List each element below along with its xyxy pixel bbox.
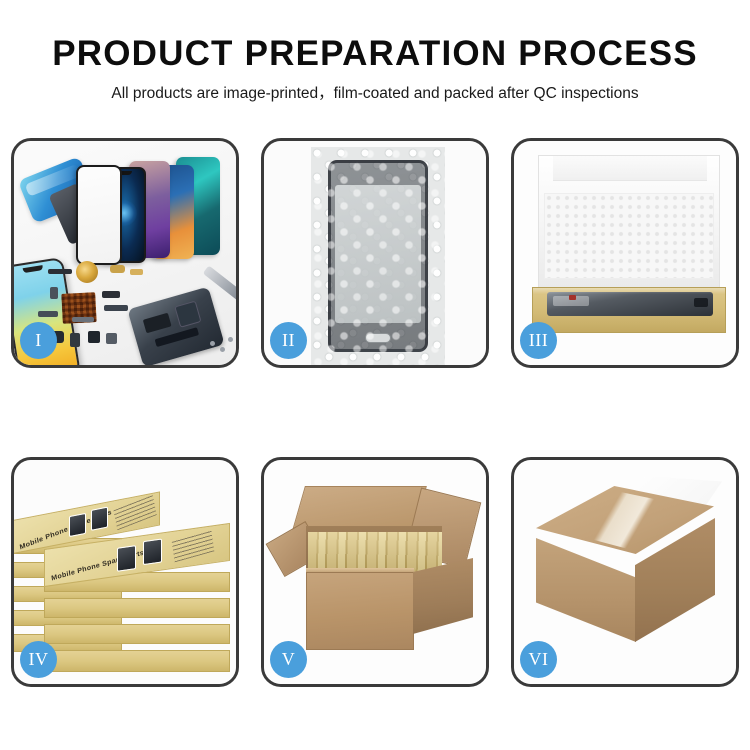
process-step-6: VI — [511, 457, 739, 687]
small-part — [48, 269, 72, 274]
packed-screen — [547, 292, 713, 316]
box-thumbnail — [117, 545, 136, 572]
process-step-2: II — [261, 138, 489, 368]
screen-marker — [569, 295, 576, 300]
step-badge-3: III — [520, 322, 557, 359]
step-badge-5: V — [270, 641, 307, 678]
small-part — [110, 265, 125, 273]
small-part — [70, 333, 80, 347]
kraft-box-base — [532, 287, 726, 333]
small-part — [38, 311, 58, 317]
step-badge-1: I — [20, 322, 57, 359]
copper-coil-part — [76, 261, 98, 283]
step-badge-2: II — [270, 322, 307, 359]
small-part — [106, 333, 117, 344]
bubble-wrap-overlay — [311, 147, 445, 365]
page-title: PRODUCT PREPARATION PROCESS — [0, 34, 750, 74]
step-badge-4: IV — [20, 641, 57, 678]
small-part — [130, 269, 143, 275]
small-part — [72, 317, 94, 322]
screw — [228, 337, 233, 342]
white-foam-insert — [544, 193, 714, 279]
process-step-5: V — [261, 457, 489, 687]
box-thumbnail — [69, 513, 86, 537]
small-part — [88, 331, 100, 343]
stacked-box — [44, 598, 230, 618]
glass-front-panel — [76, 165, 122, 265]
carton-front-face — [306, 572, 414, 650]
stacked-box — [44, 650, 230, 672]
box-thumbnail — [91, 507, 108, 531]
box-spec-lines — [113, 494, 156, 530]
process-step-3: III — [511, 138, 739, 368]
box-spec-lines — [172, 530, 215, 562]
small-part — [102, 291, 120, 298]
board-chip-b — [174, 301, 201, 328]
process-step-4: Mobile Phone Spare Parts Mobile Phone Sp… — [11, 457, 239, 687]
small-part — [50, 287, 58, 299]
product-preparation-infographic: PRODUCT PREPARATION PROCESS All products… — [0, 0, 750, 750]
page-subtitle: All products are image-printed，film-coat… — [0, 84, 750, 104]
bubble-wrap-sheet — [311, 147, 445, 365]
screw — [220, 347, 225, 352]
process-step-grid: I II — [11, 138, 739, 687]
process-step-1: I — [11, 138, 239, 368]
screw — [210, 341, 215, 346]
board-chip-a — [143, 313, 172, 334]
stacked-box — [44, 624, 230, 644]
small-part — [104, 305, 128, 311]
board-chip-c — [155, 327, 200, 347]
step-badge-6: VI — [520, 641, 557, 678]
header: PRODUCT PREPARATION PROCESS All products… — [0, 34, 750, 104]
box-thumbnail — [143, 538, 162, 565]
